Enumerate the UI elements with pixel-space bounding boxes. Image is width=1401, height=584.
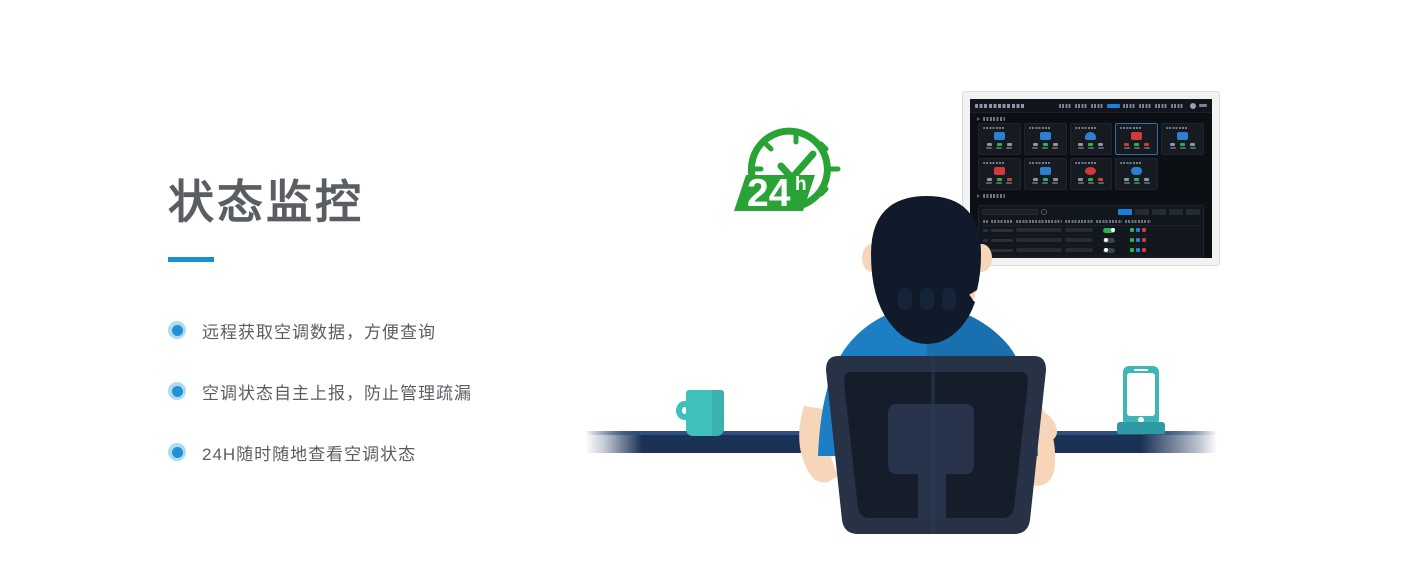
device-section-header[interactable] (970, 113, 1212, 123)
chevron-right-icon (977, 117, 980, 121)
device-icon (1085, 132, 1096, 140)
nav-item-8[interactable] (1171, 104, 1184, 108)
status-toggle[interactable] (1103, 258, 1115, 259)
bullet-dot-icon (168, 443, 186, 461)
nav-item-3[interactable] (1091, 104, 1104, 108)
bullet-dot-icon (168, 321, 186, 339)
badge-superscript: h (795, 174, 807, 195)
person-at-desk-illustration (786, 196, 1086, 536)
device-card-grid (970, 123, 1212, 190)
phone-screen (1127, 373, 1155, 416)
nav-item-1[interactable] (1059, 104, 1072, 108)
user-name-label (1199, 104, 1207, 107)
hero-text-block: 状态监控 (168, 176, 588, 262)
col-status (1096, 220, 1122, 223)
device-icon (1040, 132, 1051, 140)
device-card[interactable] (1070, 123, 1113, 155)
nav-item-5[interactable] (1123, 104, 1136, 108)
device-card[interactable] (1070, 158, 1113, 190)
feature-list: 远程获取空调数据，方便查询 空调状态自主上报，防止管理疏漏 24H随时随地查看空… (168, 316, 688, 499)
device-icon (1131, 132, 1142, 140)
device-icon (1131, 167, 1142, 175)
nav-item-2[interactable] (1075, 104, 1088, 108)
col-actions (1125, 220, 1151, 223)
nav-item-4-active[interactable] (1107, 104, 1120, 108)
badge-number: 24 (747, 172, 791, 215)
dashboard-logo (975, 104, 1025, 108)
dashboard-navbar (970, 99, 1212, 113)
feature-label: 24H随时随地查看空调状态 (202, 440, 416, 465)
avatar[interactable] (1190, 103, 1196, 109)
device-icon (1040, 167, 1051, 175)
page-title: 状态监控 (168, 176, 588, 229)
status-toggle[interactable] (1103, 238, 1115, 243)
feature-label: 远程获取空调数据，方便查询 (202, 318, 436, 343)
filter-button[interactable] (1135, 209, 1149, 215)
nav-item-7[interactable] (1155, 104, 1168, 108)
section-title (983, 117, 1005, 121)
bullet-dot-icon (168, 382, 186, 400)
title-underline (168, 257, 214, 262)
device-icon (994, 167, 1005, 175)
status-toggle[interactable] (1103, 228, 1115, 233)
mug-body (686, 390, 724, 436)
phone-speaker (1134, 369, 1148, 371)
device-card[interactable] (1024, 158, 1067, 190)
more-button[interactable] (1186, 209, 1200, 215)
phone-dock (1117, 422, 1165, 434)
status-toggle[interactable] (1103, 248, 1115, 253)
device-card-alert[interactable] (1115, 123, 1158, 155)
export-button[interactable] (1152, 209, 1166, 215)
list-item: 空调状态自主上报，防止管理疏漏 (168, 377, 688, 405)
device-icon (994, 132, 1005, 140)
nav-item-6[interactable] (1139, 104, 1152, 108)
phone-body (1123, 366, 1159, 426)
add-button[interactable] (1169, 209, 1183, 215)
device-card[interactable] (1161, 123, 1204, 155)
search-button[interactable] (1118, 209, 1132, 215)
device-card[interactable] (1024, 123, 1067, 155)
device-card[interactable] (978, 158, 1021, 190)
device-icon (1085, 167, 1096, 175)
smartphone-on-dock (1117, 366, 1165, 434)
coffee-mug (676, 390, 726, 436)
device-card[interactable] (1115, 158, 1158, 190)
feature-label: 空调状态自主上报，防止管理疏漏 (202, 379, 472, 404)
device-card[interactable] (978, 123, 1021, 155)
list-item: 远程获取空调数据，方便查询 (168, 316, 688, 344)
device-icon (1177, 132, 1188, 140)
hero-banner: 状态监控 远程获取空调数据，方便查询 空调状态自主上报，防止管理疏漏 24H随时… (0, 0, 1401, 584)
